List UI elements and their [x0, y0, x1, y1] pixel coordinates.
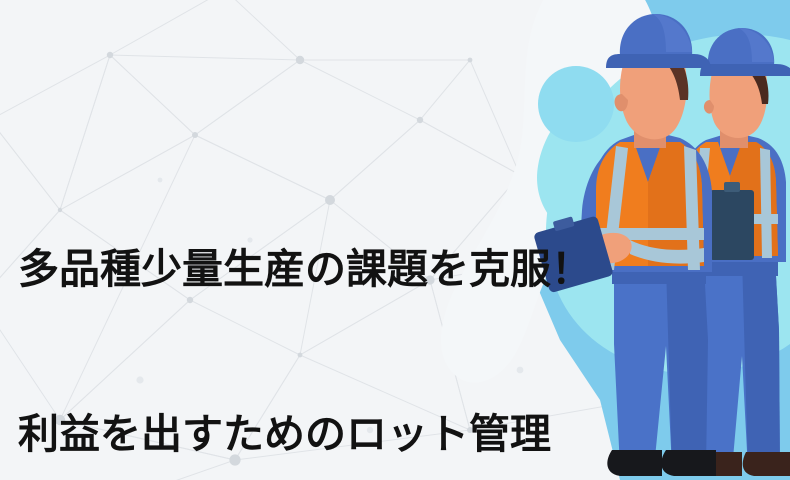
- headline-line-2: 利益を出すためのロット管理: [18, 407, 548, 462]
- worker2-cap-brim: [700, 64, 790, 76]
- worker2-shoe-right: [743, 452, 790, 476]
- headline-line-1: 多品種少量生産の課題を克服！: [18, 242, 548, 297]
- accent-circle: [538, 66, 614, 142]
- worker1-shoe-left: [607, 450, 662, 476]
- blog-hero-banner: 多品種少量生産の課題を克服！ 利益を出すためのロット管理 と生産計画の立て方: [0, 0, 790, 480]
- page-title: 多品種少量生産の課題を克服！ 利益を出すためのロット管理 と生産計画の立て方: [18, 132, 548, 480]
- tablet: [710, 190, 754, 260]
- worker1-shoe-right: [661, 450, 716, 476]
- worker1-cap-brim: [606, 54, 710, 68]
